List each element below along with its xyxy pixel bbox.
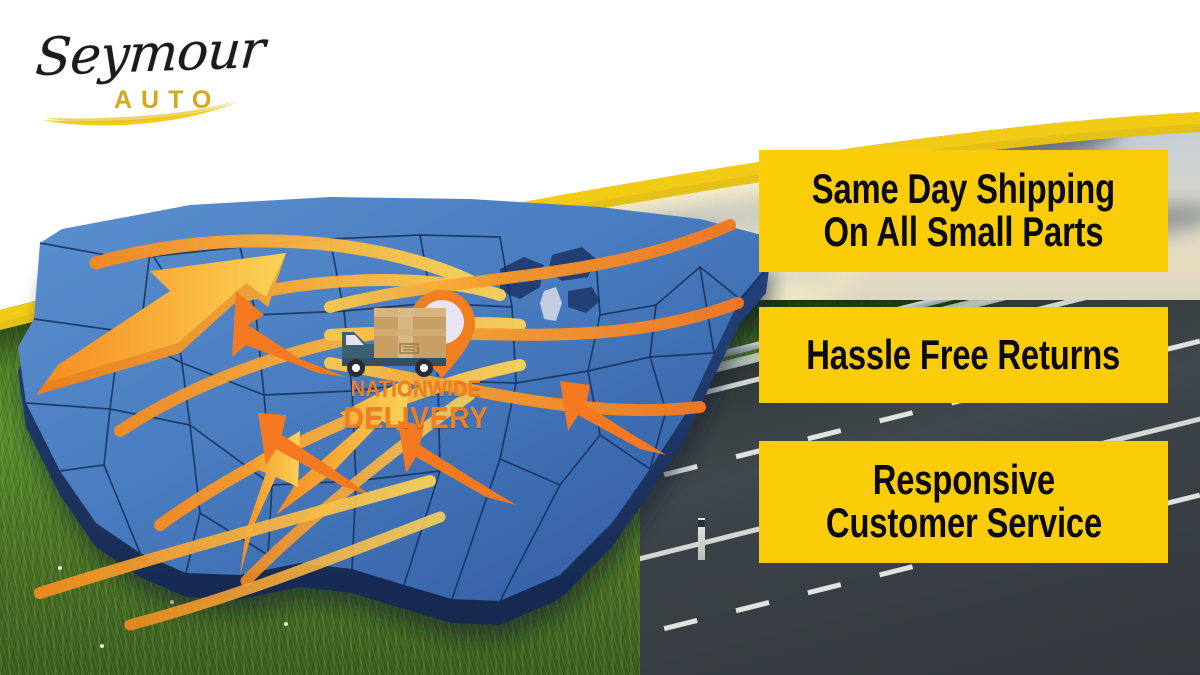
nationwide-delivery-badge: NATIONWIDE DELIVERY xyxy=(332,282,500,450)
badge-caption: NATIONWIDE DELIVERY xyxy=(332,378,500,433)
feature-panel-hassle-free-returns[interactable]: Hassle Free Returns xyxy=(759,307,1168,403)
panel-text-line: Same Day Shipping xyxy=(812,168,1115,211)
logo-script-text: Seymour xyxy=(34,20,267,88)
delivery-truck-icon xyxy=(342,308,446,377)
panel-text-line: Responsive xyxy=(872,459,1054,502)
badge-line-2: DELIVERY xyxy=(339,402,494,433)
feature-panel-responsive-customer-service[interactable]: Responsive Customer Service xyxy=(759,441,1168,563)
panel-text-line: On All Small Parts xyxy=(824,211,1104,254)
badge-line-1: NATIONWIDE xyxy=(339,378,494,400)
panel-text-line: Hassle Free Returns xyxy=(807,334,1121,377)
feature-panel-same-day-shipping[interactable]: Same Day Shipping On All Small Parts xyxy=(759,150,1168,272)
panel-text-line: Customer Service xyxy=(825,502,1101,545)
marketing-banner: Seymour AUTO xyxy=(0,0,1200,675)
brand-logo[interactable]: Seymour AUTO xyxy=(30,22,280,122)
logo-sub-text: AUTO xyxy=(114,86,220,115)
